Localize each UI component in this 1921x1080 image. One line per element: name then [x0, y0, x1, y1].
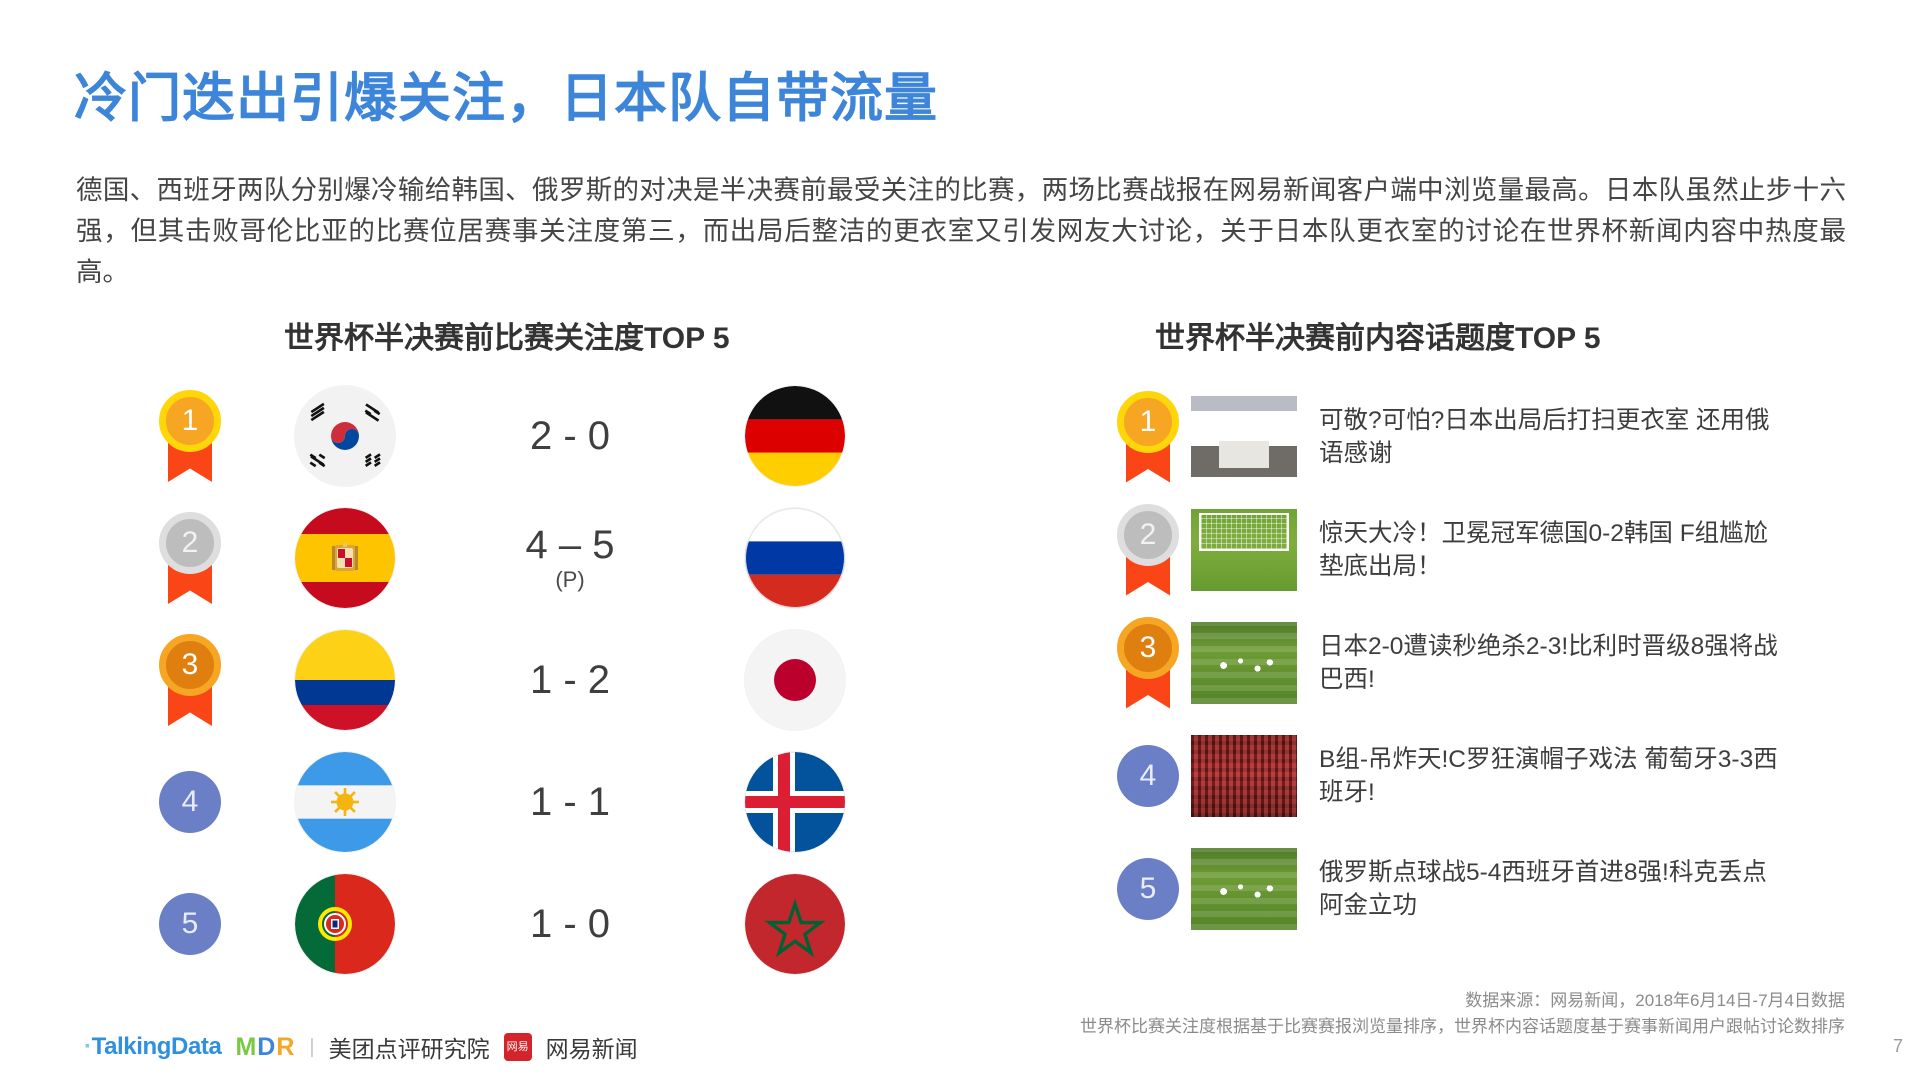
right-column-heading: 世界杯半决赛前内容话题度TOP 5: [1155, 313, 1601, 357]
rank-cell: 1: [1105, 391, 1191, 483]
article-title[interactable]: 俄罗斯点球战5-4西班牙首进8强!科克丢点阿金立功: [1319, 856, 1789, 922]
flag-iceland-icon: [745, 752, 845, 852]
flag-south-korea-icon: [295, 386, 395, 486]
logo-dot: ·: [84, 1033, 92, 1060]
topic-row[interactable]: 4 B组-吊炸天!C罗狂演帽子戏法 葡萄牙3-3西班牙!: [1105, 719, 1895, 832]
score-text: 4 – 5: [526, 523, 615, 567]
page-number: 7: [1893, 1036, 1903, 1057]
medal-bronze-icon: 3: [159, 634, 221, 726]
match-row[interactable]: 3 1 - 2: [130, 619, 890, 741]
score-text: 1 - 2: [530, 658, 610, 702]
mdr-letter-d: D: [257, 1033, 276, 1061]
topic-row[interactable]: 3 日本2-0遭读秒绝杀2-3!比利时晋级8强将战巴西!: [1105, 606, 1895, 719]
left-column-heading: 世界杯半决赛前比赛关注度TOP 5: [284, 313, 730, 357]
topic-row[interactable]: 1 可敬?可怕?日本出局后打扫更衣室 还用俄语感谢: [1105, 380, 1895, 493]
mdr-letter-m: M: [235, 1033, 257, 1061]
rank-cell: 5: [1105, 858, 1191, 920]
article-title[interactable]: 可敬?可怕?日本出局后打扫更衣室 还用俄语感谢: [1319, 404, 1789, 470]
flag-portugal-icon: [295, 874, 395, 974]
mdr-logo: MDR: [235, 1033, 295, 1062]
penalty-note: (P): [440, 568, 700, 591]
rank-cell: 4: [1105, 745, 1191, 807]
flag-cell-left: [250, 508, 440, 608]
flag-cell-left: [250, 752, 440, 852]
rank-cell: 5: [130, 893, 250, 955]
rank-number: 1: [159, 390, 221, 452]
medal-gold-icon: 1: [1117, 391, 1179, 483]
match-row[interactable]: 2: [130, 497, 890, 619]
article-title[interactable]: 惊天大冷！卫冕冠军德国0-2韩国 F组尴尬垫底出局！: [1319, 517, 1789, 583]
page-title: 冷门迭出引爆关注，日本队自带流量: [74, 56, 938, 132]
match-score: 1 - 2: [440, 659, 700, 701]
score-text: 1 - 1: [530, 780, 610, 824]
rank-badge-plain: 4: [1117, 745, 1179, 807]
netease-mark-icon: 网易: [504, 1033, 532, 1061]
flag-japan-icon: [745, 630, 845, 730]
rank-badge-plain: 5: [1117, 858, 1179, 920]
medal-silver-icon: 2: [1117, 504, 1179, 596]
slide-root: 冷门迭出引爆关注，日本队自带流量 德国、西班牙两队分别爆冷输给韩国、俄罗斯的对决…: [0, 0, 1921, 1080]
medal-gold-icon: 1: [159, 390, 221, 482]
rank-number: 3: [159, 634, 221, 696]
talkingdata-logo: ·TalkingData: [84, 1033, 221, 1061]
medal-silver-icon: 2: [159, 512, 221, 604]
flag-argentina-icon: [295, 752, 395, 852]
article-thumbnail-locker-room[interactable]: [1191, 396, 1297, 478]
rank-number: 1: [1117, 391, 1179, 453]
flag-germany-icon: [745, 386, 845, 486]
flag-cell-right: [700, 386, 890, 486]
rank-badge-plain: 5: [159, 893, 221, 955]
logo-separator: |: [309, 1036, 314, 1059]
flag-cell-left: [250, 874, 440, 974]
flag-cell-right: [700, 508, 890, 608]
match-score: 2 - 0: [440, 415, 700, 457]
flag-cell-left: [250, 386, 440, 486]
topic-attention-list: 1 可敬?可怕?日本出局后打扫更衣室 还用俄语感谢 2 惊天大冷！卫冕冠军德国0…: [1105, 380, 1895, 945]
rank-cell: 2: [1105, 504, 1191, 596]
rank-badge-plain: 4: [159, 771, 221, 833]
match-row[interactable]: 4: [130, 741, 890, 863]
medal-bronze-icon: 3: [1117, 617, 1179, 709]
flag-russia-icon: [745, 508, 845, 608]
match-row[interactable]: 5: [130, 863, 890, 985]
rank-cell: 3: [1105, 617, 1191, 709]
footer-logos: ·TalkingData MDR | 美团点评研究院 网易 网易新闻: [84, 1030, 638, 1064]
flag-cell-right: [700, 630, 890, 730]
match-score: 4 – 5 (P): [440, 524, 700, 591]
article-title[interactable]: B组-吊炸天!C罗狂演帽子戏法 葡萄牙3-3西班牙!: [1319, 743, 1789, 809]
rank-number: 2: [1117, 504, 1179, 566]
mdr-letter-r: R: [276, 1033, 295, 1061]
meituan-research-logo: 美团点评研究院: [329, 1030, 490, 1064]
talkingdata-logo-text: TalkingData: [92, 1033, 222, 1060]
rank-cell: 4: [130, 771, 250, 833]
score-text: 1 - 0: [530, 902, 610, 946]
flag-cell-right: [700, 752, 890, 852]
match-row[interactable]: 1: [130, 375, 890, 497]
rank-cell: 3: [130, 634, 250, 726]
rank-number: 3: [1117, 617, 1179, 679]
flag-cell-right: [700, 874, 890, 974]
match-attention-list: 1: [130, 375, 890, 985]
flag-spain-icon: [295, 508, 395, 608]
article-thumbnail-goal-save[interactable]: [1191, 509, 1297, 591]
topic-row[interactable]: 2 惊天大冷！卫冕冠军德国0-2韩国 F组尴尬垫底出局！: [1105, 493, 1895, 606]
score-text: 2 - 0: [530, 414, 610, 458]
intro-paragraph: 德国、西班牙两队分别爆冷输给韩国、俄罗斯的对决是半决赛前最受关注的比赛，两场比赛…: [76, 170, 1846, 293]
rank-cell: 2: [130, 512, 250, 604]
article-thumbnail-players[interactable]: [1191, 848, 1297, 930]
match-score: 1 - 1: [440, 781, 700, 823]
flag-morocco-icon: [745, 874, 845, 974]
flag-cell-left: [250, 630, 440, 730]
article-thumbnail-crowd[interactable]: [1191, 735, 1297, 817]
flag-colombia-icon: [295, 630, 395, 730]
rank-number: 2: [159, 512, 221, 574]
source-note: 数据来源：网易新闻，2018年6月14日-7月4日数据 世界杯比赛关注度根据基于…: [1080, 988, 1845, 1040]
article-title[interactable]: 日本2-0遭读秒绝杀2-3!比利时晋级8强将战巴西!: [1319, 630, 1789, 696]
match-score: 1 - 0: [440, 903, 700, 945]
source-line-2: 世界杯比赛关注度根据基于比赛赛报浏览量排序，世界杯内容话题度基于赛事新闻用户跟帖…: [1080, 1014, 1845, 1040]
netease-news-logo: 网易新闻: [546, 1030, 638, 1064]
rank-cell: 1: [130, 390, 250, 482]
topic-row[interactable]: 5 俄罗斯点球战5-4西班牙首进8强!科克丢点阿金立功: [1105, 832, 1895, 945]
article-thumbnail-pitch-celebration[interactable]: [1191, 622, 1297, 704]
source-line-1: 数据来源：网易新闻，2018年6月14日-7月4日数据: [1080, 988, 1845, 1014]
